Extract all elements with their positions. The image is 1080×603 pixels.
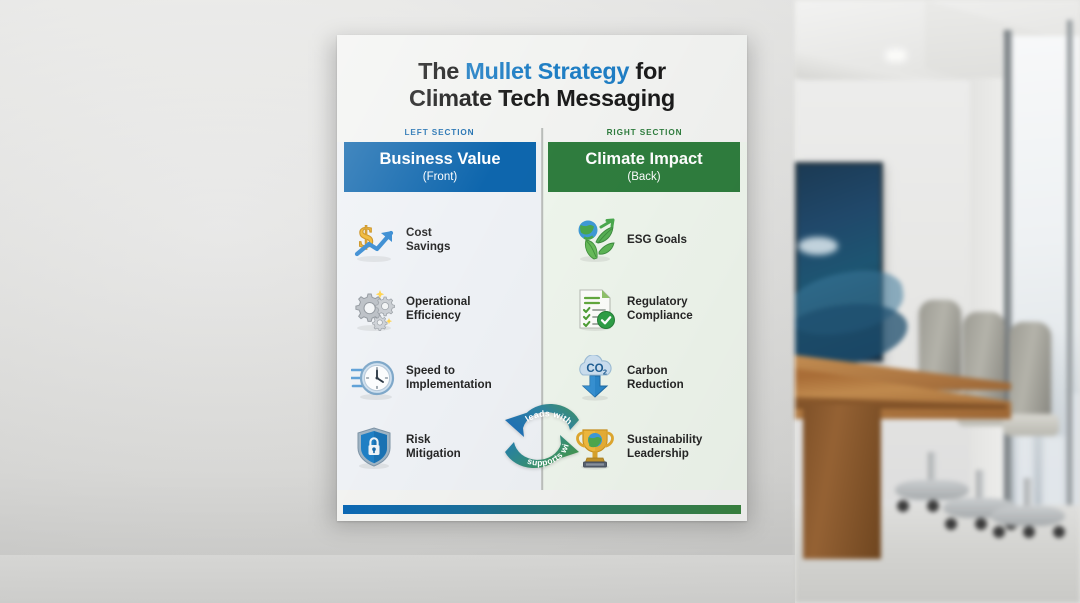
poster-title: The Mullet Strategy for Climate Tech Mes… — [337, 35, 747, 119]
label-line-1: Operational — [406, 295, 470, 309]
money-growth-icon: $ — [351, 217, 397, 263]
title-line2: Climate Tech Messaging — [409, 85, 675, 111]
label-line-1: Regulatory — [627, 295, 693, 309]
right-header-title: Climate Impact — [585, 151, 702, 168]
checklist-approved-icon — [572, 286, 618, 332]
list-item-label: Risk Mitigation — [406, 433, 461, 461]
list-item-label: Operational Efficiency — [406, 295, 470, 323]
list-item-label: Regulatory Compliance — [627, 295, 693, 323]
chair-base — [991, 478, 1065, 538]
office-chair — [1003, 322, 1059, 440]
office-wall-corner — [970, 78, 1004, 508]
conference-table-leg — [803, 404, 881, 559]
two-column-area: Business Value (Front) $ — [337, 142, 747, 490]
list-item: ESG Goals — [572, 206, 737, 275]
label-line-1: Speed to — [406, 364, 492, 378]
footer-gradient-bar — [343, 505, 741, 514]
title-line1-pre: The — [418, 58, 465, 84]
cycle-arrows: leads with supports with — [489, 390, 595, 482]
left-header-title: Business Value — [379, 151, 500, 168]
shield-lock-icon — [351, 424, 397, 470]
globe-leaves-icon — [572, 217, 618, 263]
right-column-header: Climate Impact (Back) — [548, 142, 740, 192]
list-item: $ Cost Savings — [351, 206, 532, 275]
label-line-1: Carbon — [627, 364, 684, 378]
window-mullion-secondary — [1067, 20, 1073, 565]
svg-text:CO: CO — [586, 363, 603, 375]
label-line-1: Cost — [406, 226, 450, 240]
infographic-poster: The Mullet Strategy for Climate Tech Mes… — [337, 35, 747, 521]
eyebrow-left-section: LEFT SECTION — [337, 128, 542, 137]
label-line-2: Reduction — [627, 378, 684, 392]
right-header-subtitle: (Back) — [627, 171, 660, 183]
eyebrow-right-section: RIGHT SECTION — [542, 128, 747, 137]
label-line-2: Implementation — [406, 378, 492, 392]
supports-with-label: supports with — [489, 390, 571, 468]
gears-icon — [351, 286, 397, 332]
left-column-header: Business Value (Front) — [344, 142, 536, 192]
wall-floor-line — [0, 555, 795, 603]
label-line-2: Efficiency — [406, 309, 470, 323]
list-item: Sustainability Leadership — [572, 413, 737, 482]
left-header-subtitle: (Front) — [423, 171, 458, 183]
label-line-2: Leadership — [627, 447, 702, 461]
clock-speed-icon — [351, 355, 397, 401]
label-line-2: Compliance — [627, 309, 693, 323]
ceiling-downlight — [888, 52, 904, 59]
list-item-label: Cost Savings — [406, 226, 450, 254]
svg-text:2: 2 — [603, 368, 607, 377]
label-line-1: Risk — [406, 433, 461, 447]
list-item-label: ESG Goals — [627, 233, 687, 247]
list-item: Regulatory Compliance — [572, 275, 737, 344]
list-item: CO 2 Carbon Reduction — [572, 344, 737, 413]
label-line-1: ESG Goals — [627, 233, 687, 247]
list-item-label: Carbon Reduction — [627, 364, 684, 392]
office-background-photo — [795, 0, 1080, 603]
label-line-1: Sustainability — [627, 433, 702, 447]
list-item: Operational Efficiency — [351, 275, 532, 344]
label-line-2: Mitigation — [406, 447, 461, 461]
room-scene: The Mullet Strategy for Climate Tech Mes… — [0, 0, 1080, 603]
list-item-label: Sustainability Leadership — [627, 433, 702, 461]
list-item-label: Speed to Implementation — [406, 364, 492, 392]
label-line-2: Savings — [406, 240, 450, 254]
framed-artwork — [795, 162, 883, 362]
title-line1-post: for — [629, 58, 666, 84]
title-highlight: Mullet Strategy — [465, 58, 629, 84]
